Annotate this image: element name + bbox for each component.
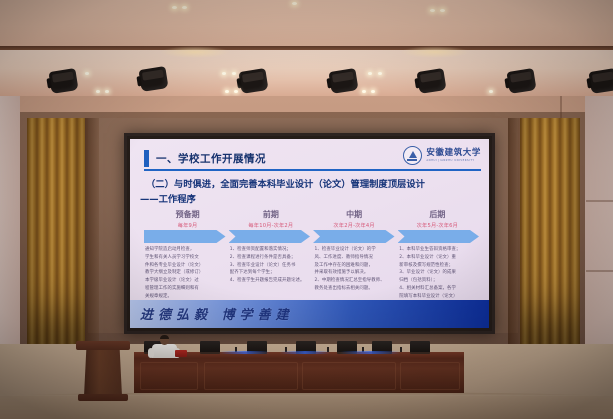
detail-line: 教务处查出指标去相关问题。: [315, 286, 395, 293]
phase-arrow-icon: [144, 230, 226, 243]
university-name-en: ANHUI JIANZHU UNIVERSITY: [426, 159, 481, 162]
wall-pillar-left: [0, 96, 20, 346]
detail-line: 通知学院造启动月检查，: [145, 247, 225, 254]
university-motto: 进德弘毅 博学善建: [140, 304, 294, 323]
downlight-icon: [182, 6, 187, 9]
curtain-shadow-right: [508, 118, 522, 344]
fixture-led-icon: [371, 90, 375, 93]
phase-arrow-icon: [229, 230, 311, 243]
ceiling: [0, 0, 613, 48]
desk-monitor: [200, 341, 220, 354]
slide-title: 一、学校工作开展情况: [156, 151, 266, 166]
detail-line: 4、相关材料汇总备案，各学: [399, 286, 479, 293]
fixture-led-icon: [96, 90, 100, 93]
phase-name: 中期: [313, 209, 396, 220]
curtain-shadow-left: [85, 118, 99, 344]
detail-line: 及工作中存在的困难和问题，: [315, 263, 395, 270]
detail-line: 程管理工作的实施细则和有: [145, 286, 225, 293]
slide-subtitle-line2: ——工作程序: [140, 191, 196, 205]
presenter-hair: [160, 335, 169, 339]
detail-line: 3、检查毕业设计（论文）任务书: [230, 263, 310, 270]
conference-table: [134, 358, 464, 393]
fixture-led-icon: [225, 90, 229, 93]
table-panel: [400, 362, 460, 390]
phase-arrow-icon: [313, 230, 395, 243]
ceiling-glow: [400, 46, 470, 58]
desk-monitor: [410, 341, 430, 354]
projection-screen: 一、学校工作开展情况 安徽建筑大学 ANHUI JIANZHU UNIVERSI…: [130, 139, 489, 328]
podium-base: [78, 394, 128, 401]
fixture-led-icon: [222, 72, 226, 75]
downlight-icon: [292, 2, 297, 5]
fixture-led-icon: [378, 72, 382, 75]
detail-line: 教学大纲立及制定（或修订）: [145, 270, 225, 277]
downlight-icon: [172, 6, 177, 9]
stage-light-fixture: [238, 68, 268, 94]
detail-line: 件和各专业毕业设计（论文）: [145, 263, 225, 270]
desk-red-object: [175, 350, 187, 357]
title-underline: [144, 169, 481, 171]
detail-line: 1、检查毕业设计（论文）的学: [315, 247, 395, 254]
projection-screen-frame: 一、学校工作开展情况 安徽建筑大学 ANHUI JIANZHU UNIVERSI…: [124, 133, 495, 334]
fixture-led-icon: [85, 72, 89, 75]
fixture-led-icon: [362, 90, 366, 93]
stage-light-fixture: [138, 66, 168, 92]
phase-date: 每年9月: [146, 222, 229, 229]
phase-name: 后期: [396, 209, 479, 220]
detail-line: 3、毕业设计（论文）的成果: [399, 270, 479, 277]
auditorium-scene: 一、学校工作开展情况 安徽建筑大学 ANHUI JIANZHU UNIVERSI…: [0, 0, 613, 419]
detail-line: 4、检查学生开题报告完成开题论述。: [230, 278, 310, 285]
phase-arrow-icon: [398, 230, 480, 243]
detail-line: 配齐下达到每个学生；: [230, 270, 310, 277]
stage-light-fixture: [48, 68, 78, 94]
desk-screen-glow: [280, 351, 330, 354]
desk-screen-glow: [220, 351, 270, 354]
detail-line: 新审核及撰写规范性检查；: [399, 263, 479, 270]
stage-curtain-left: [27, 118, 85, 344]
stage-curtain-right: [520, 118, 580, 344]
university-name: 安徽建筑大学: [426, 149, 481, 158]
downlight-icon: [440, 9, 445, 12]
table-panel: [204, 362, 298, 390]
stage-light-fixture: [506, 68, 536, 94]
detail-line: 归档（包括资料）；: [399, 278, 479, 285]
university-seal-icon: [403, 146, 422, 165]
detail-line: 风、工作进度、教师指导情况: [315, 255, 395, 262]
wall-seam: [586, 270, 613, 272]
phase-arrow-row: [144, 230, 479, 243]
podium: [84, 350, 122, 396]
fixture-led-icon: [489, 90, 493, 93]
table-panel: [302, 362, 396, 390]
wall-pillar-right: [585, 96, 613, 346]
stage-light-fixture: [328, 68, 358, 94]
downlight-icon: [430, 9, 435, 12]
phase-date: 次年5月-次年6月: [396, 222, 479, 229]
phase-name: 前期: [229, 209, 312, 220]
slide-footer-bar: 进德弘毅 博学善建: [130, 300, 489, 328]
desk-screen-glow: [340, 351, 400, 354]
detail-line: 1、检查师资配置和落实情况；: [230, 247, 310, 254]
phase-date: 每年10月-次年2月: [229, 222, 312, 229]
table-panel: [140, 362, 198, 390]
fixture-led-icon: [234, 90, 238, 93]
fixture-led-icon: [368, 72, 372, 75]
presenter-arm: [148, 348, 154, 358]
title-accent-bar: [144, 150, 149, 167]
detail-line: 学生和有关人员学习学校文: [145, 255, 225, 262]
desk-microphone: [400, 347, 402, 352]
fixture-led-icon: [232, 72, 236, 75]
stage-light-fixture: [416, 68, 446, 94]
phase-date: 次年2月-次年4月: [313, 222, 396, 229]
university-logo: 安徽建筑大学 ANHUI JIANZHU UNIVERSITY: [403, 146, 481, 165]
slide-subtitle-line1: （二）与时俱进，全面完善本科毕业设计（论文）管理制度顶层设计: [146, 179, 481, 192]
ceiling-glow: [160, 46, 230, 58]
phase-name: 预备期: [146, 209, 229, 220]
detail-line: 2、中期检查情况汇总至指导教师、: [315, 278, 395, 285]
detail-line: 1、本科毕业生答辩资格审查；: [399, 247, 479, 254]
wall-seam: [586, 200, 613, 202]
podium-top: [76, 341, 130, 350]
detail-line: 2、检查课程进行条件是否具备；: [230, 255, 310, 262]
detail-line: 2、本科毕业设计（论文）重: [399, 255, 479, 262]
detail-line: 本学级毕业设计（论文）过: [145, 278, 225, 285]
detail-line: 并采取有效措施予以解决。: [315, 270, 395, 277]
fixture-led-icon: [105, 90, 109, 93]
stage-light-fixture: [588, 68, 613, 94]
